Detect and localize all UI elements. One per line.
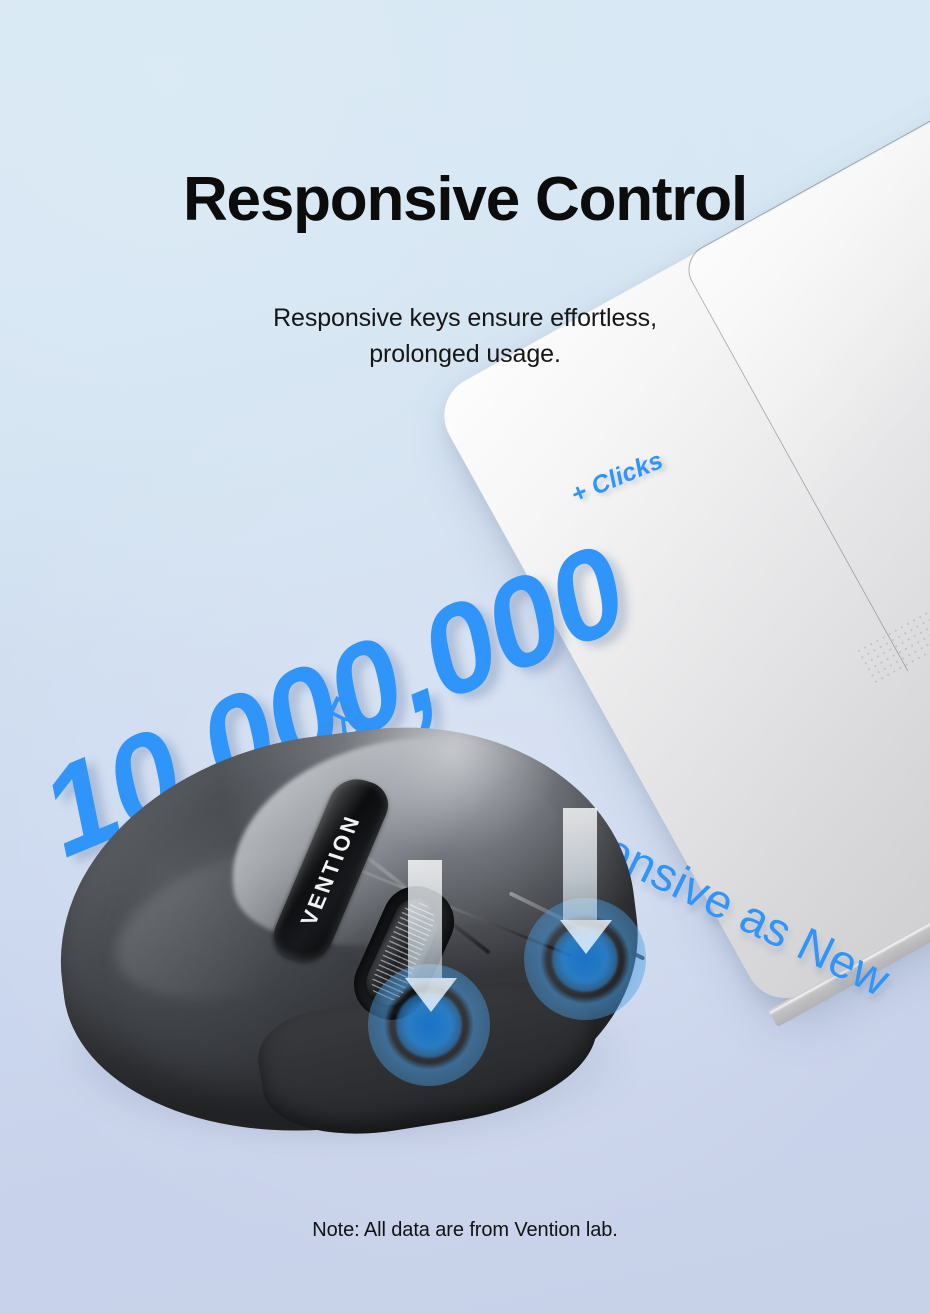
right-click-down-arrow-icon bbox=[560, 808, 600, 954]
subtitle-line-1: Responsive keys ensure effortless, bbox=[0, 301, 930, 337]
arrow-head bbox=[405, 978, 457, 1012]
page-subtitle: Responsive keys ensure effortless, prolo… bbox=[0, 301, 930, 372]
left-click-down-arrow-icon bbox=[405, 860, 445, 1012]
product-feature-poster: Responsive Control Responsive keys ensur… bbox=[0, 0, 930, 1314]
footnote: Note: All data are from Vention lab. bbox=[0, 1219, 930, 1242]
page-title: Responsive Control bbox=[0, 168, 930, 231]
arrow-stem bbox=[563, 808, 597, 920]
arrow-stem bbox=[408, 860, 442, 978]
subtitle-line-2: prolonged usage. bbox=[0, 337, 930, 373]
arrow-head bbox=[560, 920, 612, 954]
